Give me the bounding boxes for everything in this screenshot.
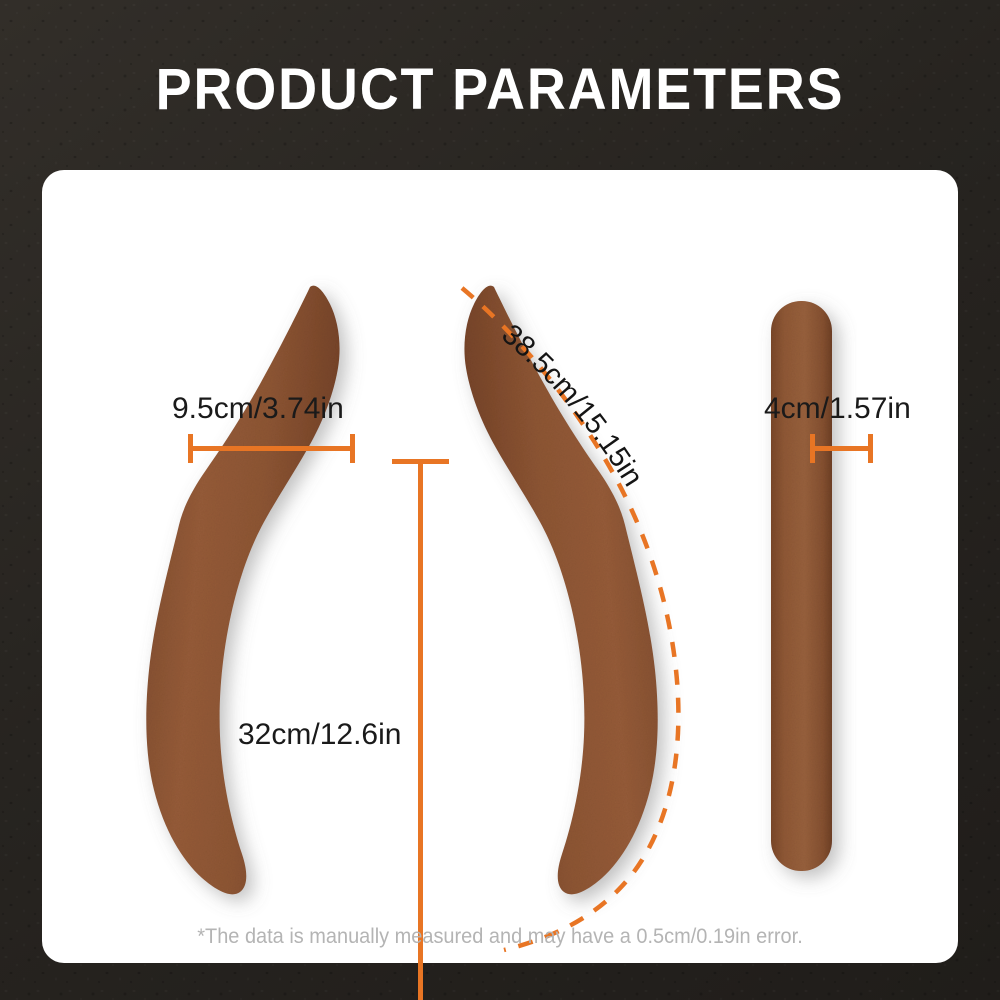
- arc-dimension-text: 38.5cm/15.15in: [496, 318, 649, 492]
- width-bracket-right: [810, 446, 873, 451]
- height-measure-line: [418, 459, 423, 1000]
- product-shape-left: [146, 286, 339, 895]
- dimension-label-width-left: 9.5cm/3.74in: [172, 392, 344, 426]
- product-shape-middle: [464, 286, 657, 895]
- width-bracket-left: [188, 446, 355, 451]
- page-title: PRODUCT PARAMETERS: [35, 56, 965, 123]
- measurement-disclaimer: *The data is manually measured and may h…: [65, 925, 935, 949]
- arc-dimension-label: 38.5cm/15.15in: [42, 170, 958, 963]
- dimension-label-height: 32cm/12.6in: [238, 718, 401, 752]
- product-illustrations: [42, 170, 958, 963]
- product-shape-right: [771, 301, 832, 871]
- parameters-card: 38.5cm/15.15in 9.5cm/3.74in 4cm/1.57in 3…: [42, 170, 958, 963]
- arc-measure-line: [462, 288, 678, 950]
- product-parameters-infographic: PRODUCT PARAMETERS: [0, 0, 1000, 1000]
- dimension-label-width-right: 4cm/1.57in: [764, 392, 911, 426]
